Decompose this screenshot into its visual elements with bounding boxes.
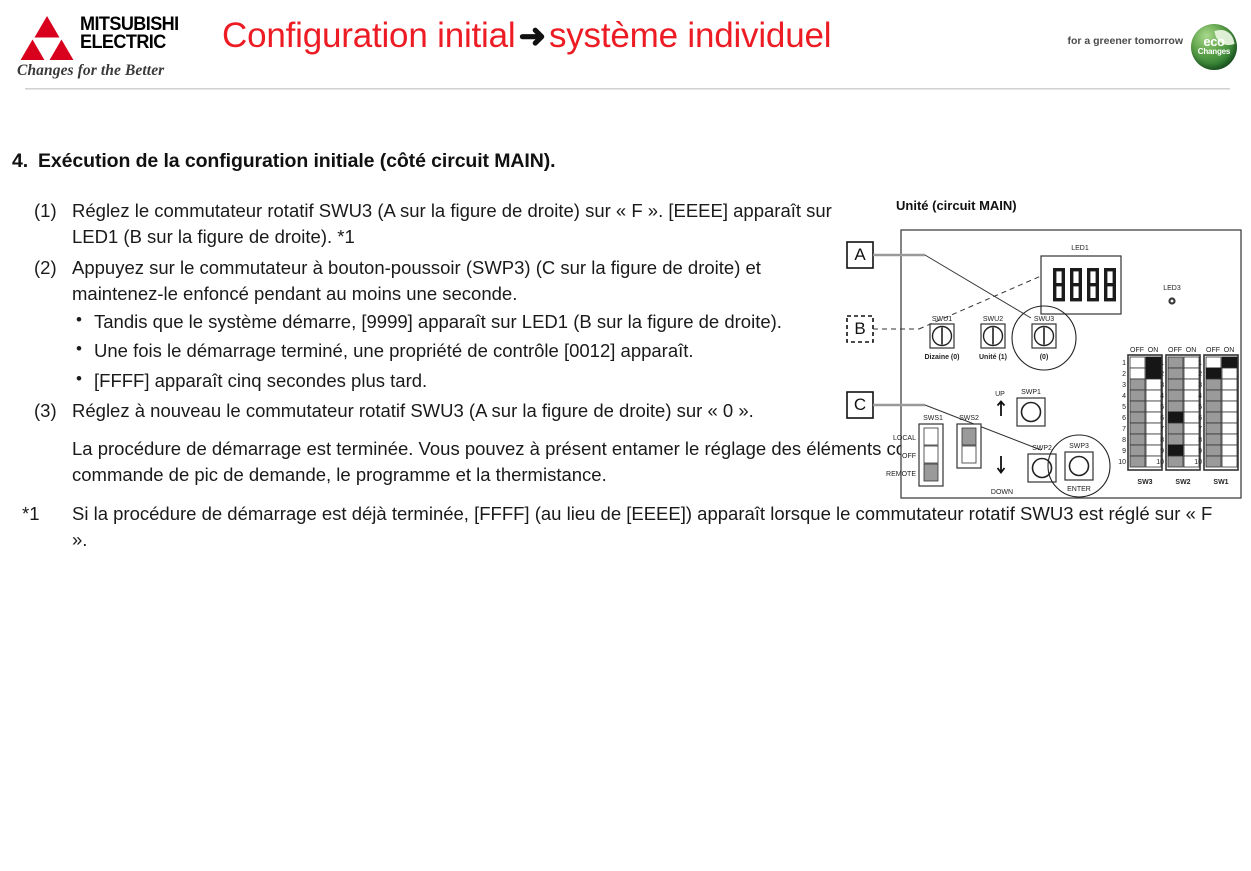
sw1-col-off: OFF xyxy=(1206,347,1220,354)
svg-text:9: 9 xyxy=(1160,448,1164,455)
svg-text:3: 3 xyxy=(1198,382,1202,389)
svg-text:5: 5 xyxy=(1122,404,1126,411)
svg-text:5: 5 xyxy=(1160,404,1164,411)
swp3-caption: ENTER xyxy=(1067,486,1091,493)
svg-text:1: 1 xyxy=(1198,360,1202,367)
svg-text:8: 8 xyxy=(1160,437,1164,444)
rotary-switch-swu2: SWU2 Unité (1) xyxy=(979,316,1007,361)
swp1-caption: UP xyxy=(995,391,1005,398)
step-1-text: Réglez le commutateur rotatif SWU3 (A su… xyxy=(72,200,832,247)
step-3-text: Réglez à nouveau le commutateur rotatif … xyxy=(72,400,754,421)
eco-tagline: for a greener tomorrow xyxy=(1067,35,1183,47)
section-number: 4. xyxy=(12,150,38,173)
callout-a-label: A xyxy=(854,245,866,264)
callout-c-label: C xyxy=(854,395,866,414)
three-diamonds-logo-icon xyxy=(16,14,78,60)
svg-text:4: 4 xyxy=(1198,393,1202,400)
sw2-col-on: ON xyxy=(1186,347,1197,354)
sw3-name: SW3 xyxy=(1137,479,1152,486)
swu3-caption: (0) xyxy=(1040,354,1049,361)
sw3-col-on: ON xyxy=(1148,347,1159,354)
step-2-marker: (2) xyxy=(34,255,74,281)
svg-text:2: 2 xyxy=(1122,371,1126,378)
page-header: MITSUBISHI ELECTRIC Changes for the Bett… xyxy=(0,0,1251,95)
mitsubishi-electric-logo: MITSUBISHI ELECTRIC Changes for the Bett… xyxy=(16,12,212,78)
brand-tagline: Changes for the Better xyxy=(17,62,164,80)
brand-wordmark: MITSUBISHI ELECTRIC xyxy=(80,16,184,52)
svg-text:1: 1 xyxy=(1122,360,1126,367)
step-1: (1) Réglez le commutateur rotatif SWU3 (… xyxy=(0,198,840,251)
diagram-svg: .ln { stroke:#333; stroke-width:1; fill:… xyxy=(845,198,1245,538)
svg-text:6: 6 xyxy=(1122,415,1126,422)
svg-text:8: 8 xyxy=(1198,437,1202,444)
section-title: Exécution de la configuration initiale (… xyxy=(38,150,555,172)
svg-text:2: 2 xyxy=(1198,371,1202,378)
swu1-label: SWU1 xyxy=(932,316,952,323)
swu3-label: SWU3 xyxy=(1034,316,1054,323)
page-title-before: Configuration initial xyxy=(222,16,515,55)
svg-text:4: 4 xyxy=(1160,393,1164,400)
section-heading: 4.Exécution de la configuration initiale… xyxy=(12,150,832,173)
sw3-col-off: OFF xyxy=(1130,347,1144,354)
footnote-marker: *1 xyxy=(22,501,40,527)
swp3-label: SWP3 xyxy=(1069,443,1089,450)
svg-text:4: 4 xyxy=(1122,393,1126,400)
swu2-label: SWU2 xyxy=(983,316,1003,323)
arrow-right-icon: ➜ xyxy=(515,17,548,54)
svg-text:5: 5 xyxy=(1198,404,1202,411)
sw1-name: SW1 xyxy=(1213,479,1228,486)
sws1-option-off: OFF xyxy=(902,453,916,460)
svg-text:3: 3 xyxy=(1160,382,1164,389)
sw1-col-on: ON xyxy=(1224,347,1235,354)
instruction-steps: (1) Réglez le commutateur rotatif SWU3 (… xyxy=(0,198,840,553)
page-title-after: système individuel xyxy=(549,16,831,55)
led1-label: LED1 xyxy=(1071,245,1089,252)
brand-line-2: ELECTRIC xyxy=(80,34,179,52)
svg-text:8: 8 xyxy=(1122,437,1126,444)
eco-changes-badge-icon: eco Changes xyxy=(1191,24,1237,70)
swp1-label: SWP1 xyxy=(1021,389,1041,396)
step-2-text: Appuyez sur le commutateur à bouton-pous… xyxy=(72,257,761,304)
eco-badge-bottom-text: Changes xyxy=(1191,48,1237,56)
sws2-label: SWS2 xyxy=(959,415,979,422)
swp2-label: SWP2 xyxy=(1032,445,1052,452)
svg-text:3: 3 xyxy=(1122,382,1126,389)
svg-text:7: 7 xyxy=(1198,426,1202,433)
header-divider xyxy=(25,88,1230,90)
svg-text:6: 6 xyxy=(1198,415,1202,422)
step-3-marker: (3) xyxy=(34,398,74,424)
sws1-label: SWS1 xyxy=(923,415,943,422)
page-title: Configuration initial➜système individuel xyxy=(222,16,1022,56)
swu1-caption: Dizaine (0) xyxy=(924,354,959,361)
step-2-bullets: Tandis que le système démarre, [9999] ap… xyxy=(72,309,840,394)
svg-text:10: 10 xyxy=(1194,459,1202,466)
svg-text:10: 10 xyxy=(1118,459,1126,466)
svg-text:7: 7 xyxy=(1160,426,1164,433)
list-item: Une fois le démarrage terminé, une propr… xyxy=(72,338,840,364)
svg-text:6: 6 xyxy=(1160,415,1164,422)
step-3: (3) Réglez à nouveau le commutateur rota… xyxy=(0,398,840,424)
step-2: (2) Appuyez sur le commutateur à bouton-… xyxy=(0,255,840,394)
step-1-marker: (1) xyxy=(34,198,74,224)
sws1-option-remote: REMOTE xyxy=(886,471,916,478)
svg-text:7: 7 xyxy=(1122,426,1126,433)
sws1-option-local: LOCAL xyxy=(893,435,916,442)
svg-text:10: 10 xyxy=(1156,459,1164,466)
svg-text:2: 2 xyxy=(1160,371,1164,378)
sw2-col-off: OFF xyxy=(1168,347,1182,354)
swp2-caption: DOWN xyxy=(991,489,1013,496)
list-item: [FFFF] apparaît cinq secondes plus tard. xyxy=(72,368,840,394)
svg-text:1: 1 xyxy=(1160,360,1164,367)
list-item: Tandis que le système démarre, [9999] ap… xyxy=(72,309,840,335)
svg-text:9: 9 xyxy=(1198,448,1202,455)
svg-text:9: 9 xyxy=(1122,448,1126,455)
main-circuit-diagram: Unité (circuit MAIN) .ln { stroke:#333; … xyxy=(845,198,1245,538)
led3-label: LED3 xyxy=(1163,285,1181,292)
swu2-caption: Unité (1) xyxy=(979,354,1007,361)
callout-b-label: B xyxy=(854,319,865,338)
sw2-name: SW2 xyxy=(1175,479,1190,486)
